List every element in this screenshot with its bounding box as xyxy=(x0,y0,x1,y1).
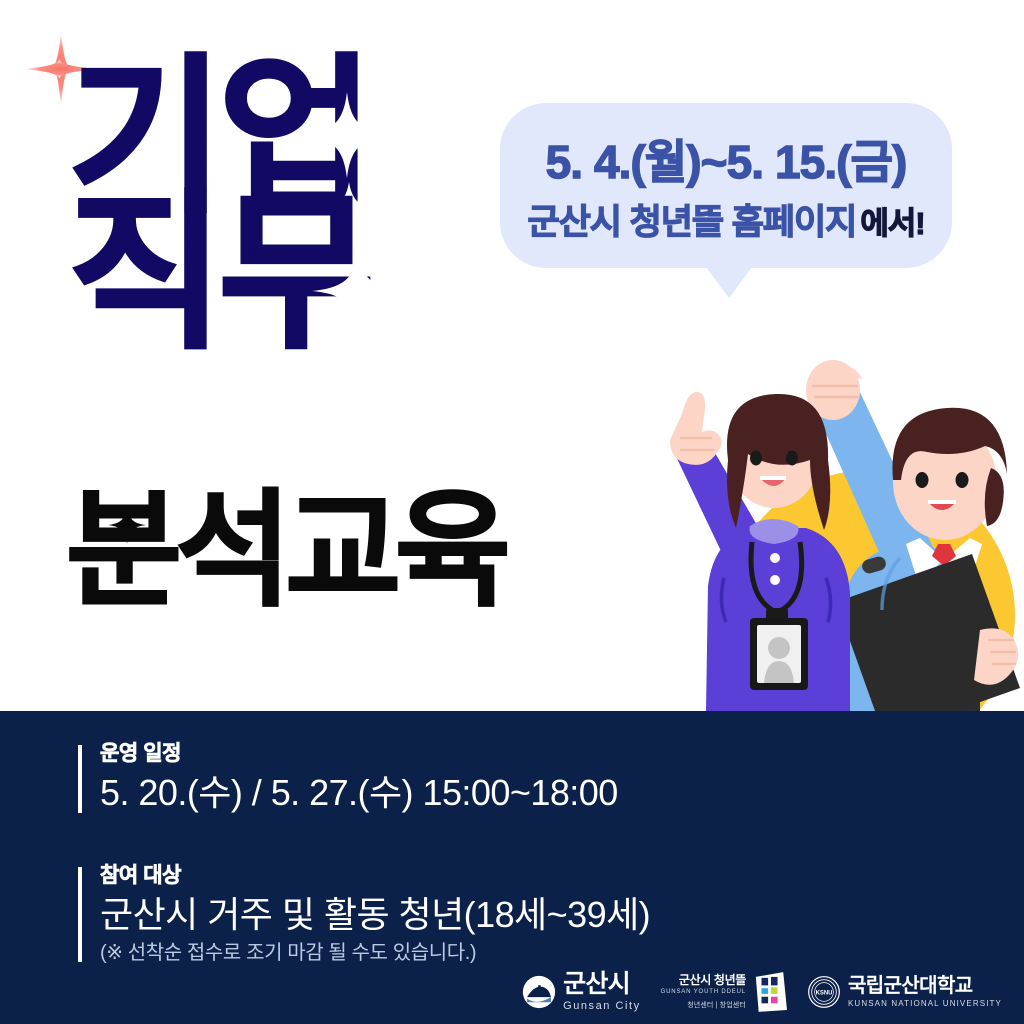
svg-text:KSNU: KSNU xyxy=(816,991,833,997)
subtitle-text: 분석교육 xyxy=(66,480,504,621)
logo-row: 군산시 Gunsan City 군산시 청년뜰 GUNSAN YOUTH DDE… xyxy=(522,972,1002,1012)
bubble-period: 5. 4.(월)~5. 15.(금) xyxy=(546,126,907,192)
logo-youth-en: GUNSAN YOUTH DDEUL xyxy=(661,989,746,995)
logo-kunsan-national-university: KSNU 국립군산대학교 KUNSAN NATIONAL UNIVERSITY xyxy=(807,975,1002,1009)
logo-knu-en: KUNSAN NATIONAL UNIVERSITY xyxy=(848,1000,1002,1008)
schedule-value: 5. 20.(수) / 5. 27.(수) 15:00~18:00 xyxy=(100,769,618,817)
top-section: 기업 직무 분석교육 5. 4.(월)~5. 15.(금) 군산시 청년뜰 홈페… xyxy=(0,0,1024,711)
target-note: (※ 선착순 접수로 조기 마감 될 수도 있습니다.) xyxy=(100,940,650,966)
people-illustration xyxy=(600,330,1024,711)
logo-gunsan-city: 군산시 Gunsan City xyxy=(522,972,640,1012)
announcement-bubble: 5. 4.(월)~5. 15.(금) 군산시 청년뜰 홈페이지에서! xyxy=(500,103,952,268)
bubble-site: 군산시 청년뜰 홈페이지 xyxy=(527,203,856,242)
bubble-site-line: 군산시 청년뜰 홈페이지에서! xyxy=(527,194,924,245)
bubble-tail xyxy=(706,267,752,298)
gunsan-emblem-icon xyxy=(522,975,556,1009)
youth-ddeul-mark-icon xyxy=(753,972,787,1012)
target-value: 군산시 거주 및 활동 청년(18세~39세) xyxy=(100,891,650,939)
target-label: 참여 대상 xyxy=(100,863,650,888)
knu-seal-icon: KSNU xyxy=(807,975,841,1009)
subtitle: 분석교육 xyxy=(66,488,504,614)
logo-gunsan-kr: 군산시 xyxy=(563,972,640,997)
headline-line-2: 직무 xyxy=(68,206,488,342)
logo-gunsan-en: Gunsan City xyxy=(563,1001,640,1012)
schedule-block: 운영 일정 5. 20.(수) / 5. 27.(수) 15:00~18:00 xyxy=(78,741,618,817)
logo-youth-ddeul: 군산시 청년뜰 GUNSAN YOUTH DDEUL 청년센터 | 창업센터 xyxy=(661,972,787,1012)
logo-youth-kr: 군산시 청년뜰 xyxy=(679,974,746,986)
sparkle-black-icon xyxy=(108,506,146,544)
schedule-label: 운영 일정 xyxy=(100,741,618,766)
info-panel: 운영 일정 5. 20.(수) / 5. 27.(수) 15:00~18:00 … xyxy=(0,711,1024,1024)
logo-youth-sub: 청년센터 | 창업센터 xyxy=(687,1000,746,1010)
target-block: 참여 대상 군산시 거주 및 활동 청년(18세~39세) (※ 선착순 접수로… xyxy=(78,863,650,966)
poster-canvas: 기업 직무 분석교육 5. 4.(월)~5. 15.(금) 군산시 청년뜰 홈페… xyxy=(0,0,1024,1024)
logo-knu-kr: 국립군산대학교 xyxy=(848,976,1002,996)
bubble-site-suffix: 에서! xyxy=(860,206,924,241)
headline: 기업 직무 xyxy=(68,70,488,342)
